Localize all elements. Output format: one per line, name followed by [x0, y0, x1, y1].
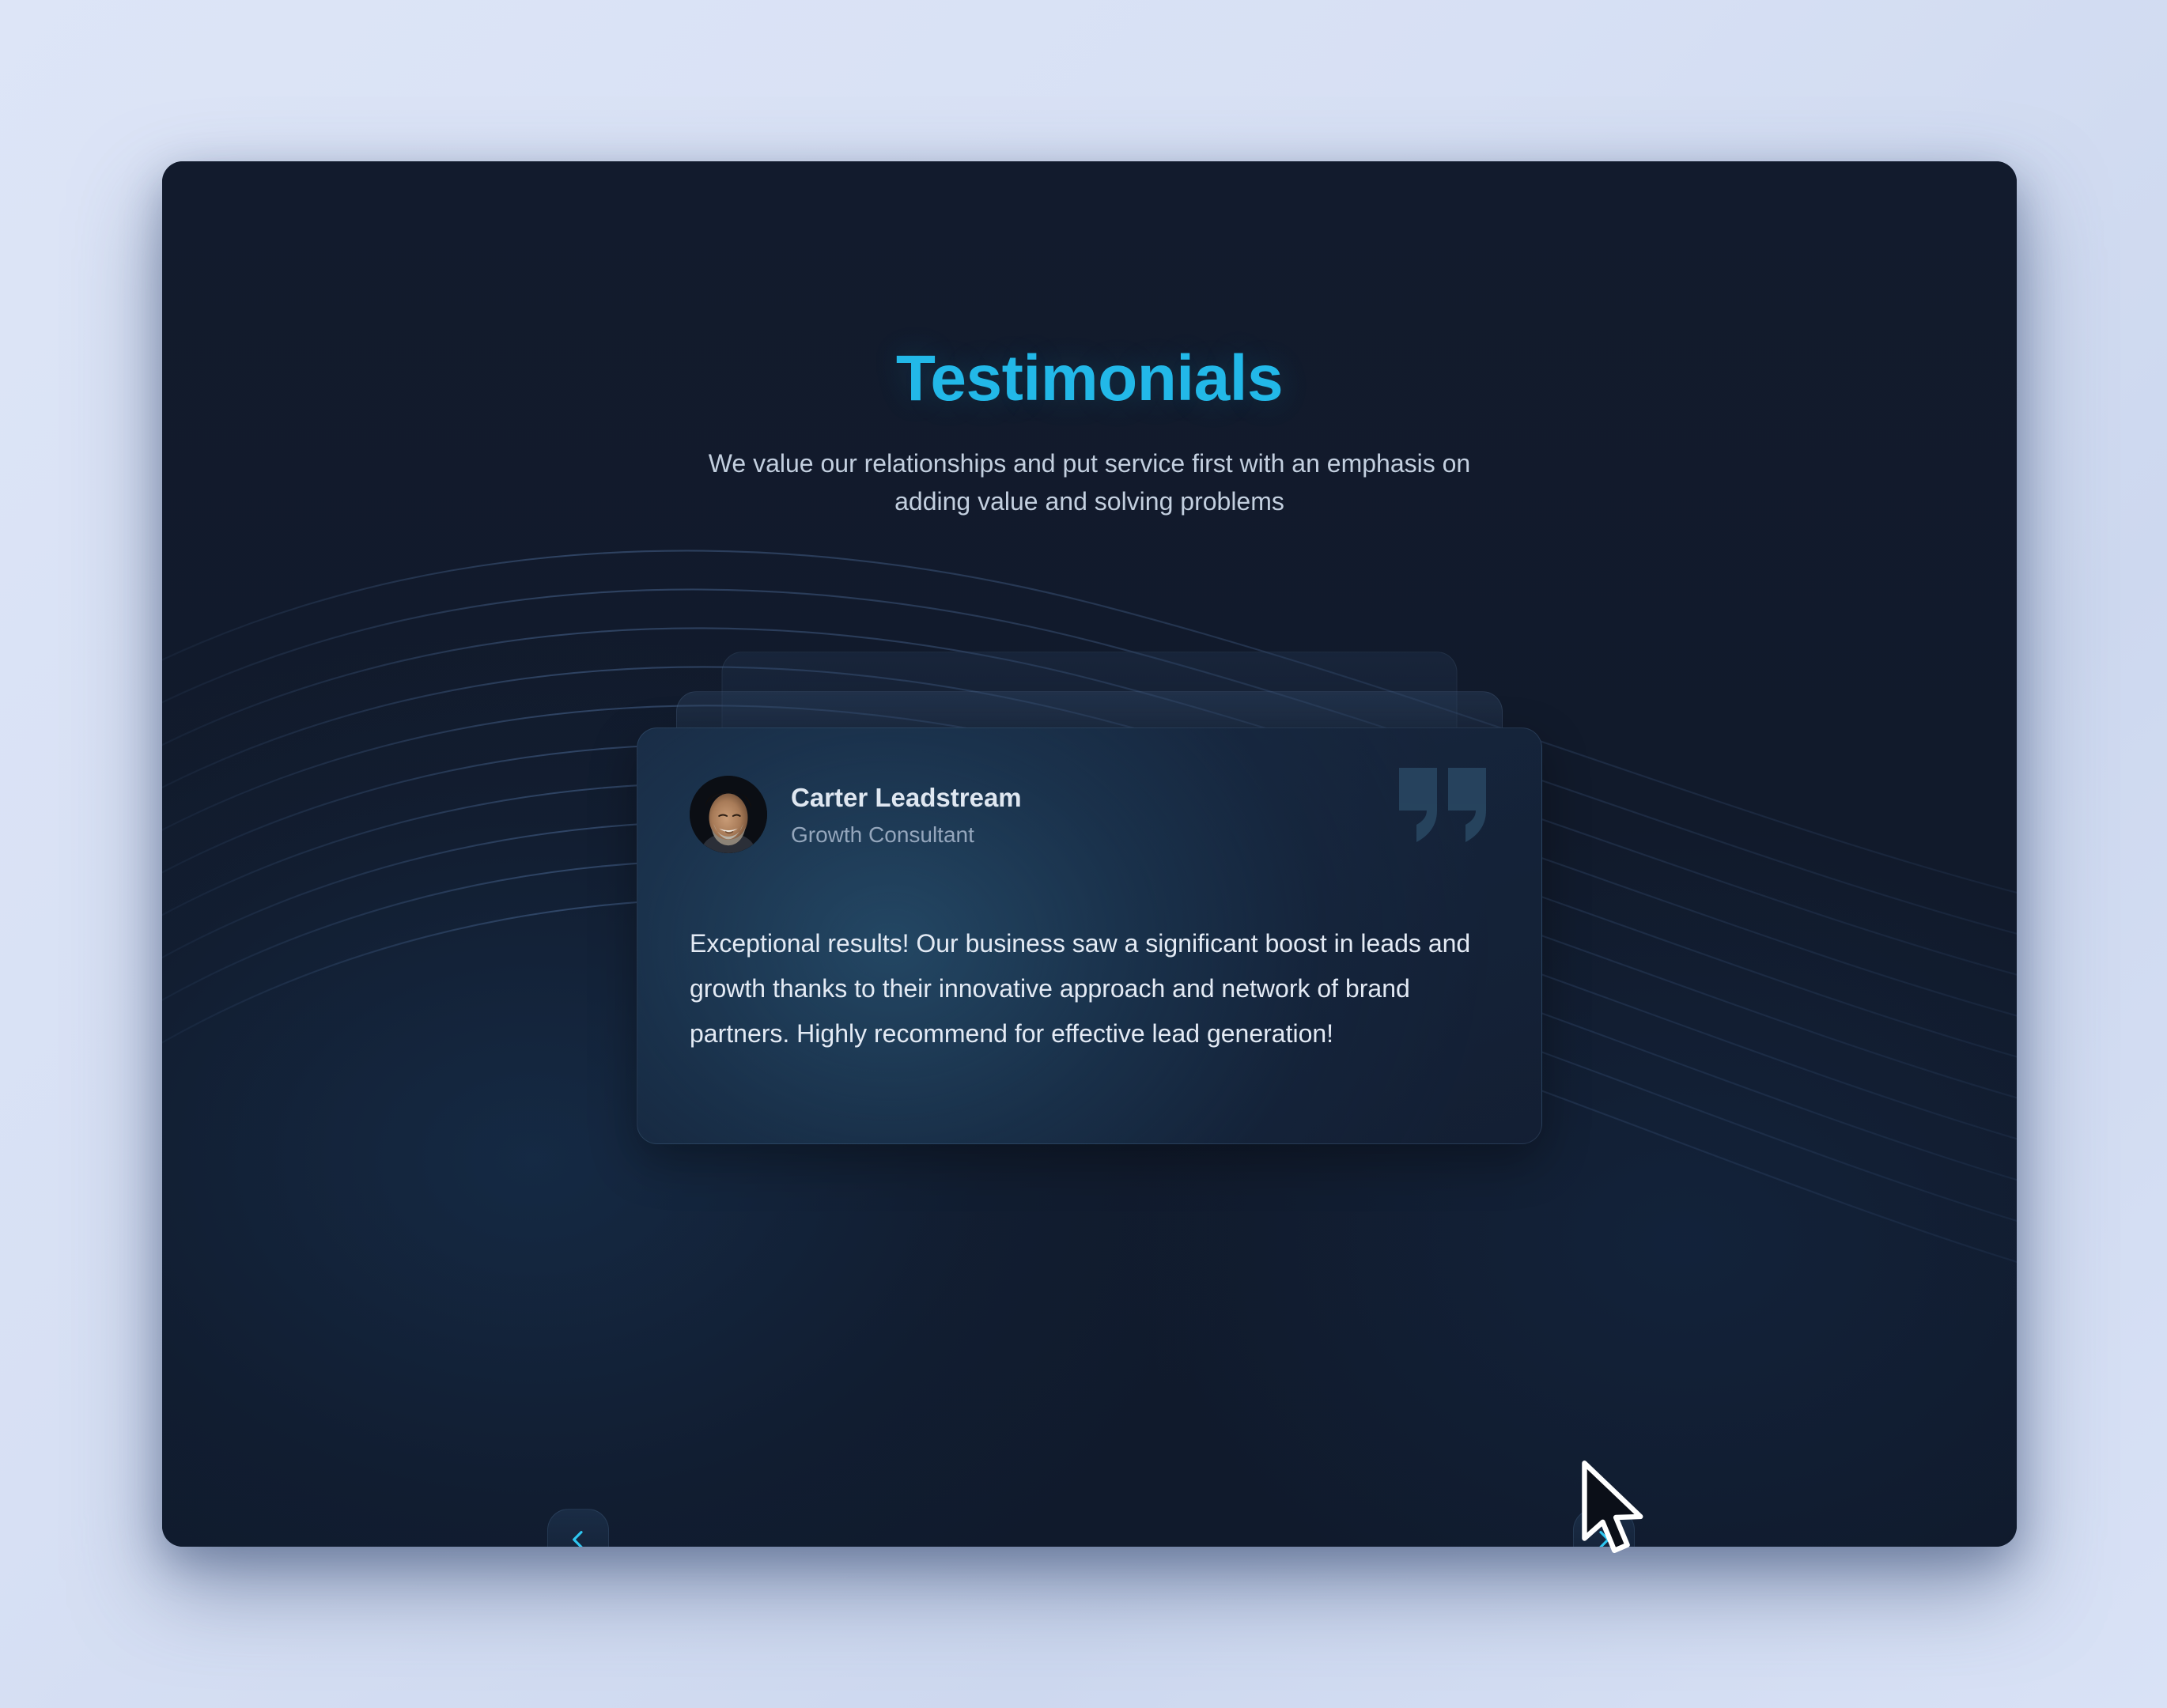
testimonial-carousel: Carter Leadstream Growth Consultant Ex [162, 652, 2017, 1205]
author-role: Growth Consultant [791, 822, 1022, 848]
chevron-left-icon [565, 1527, 591, 1547]
page-title: Testimonials [162, 345, 2017, 413]
carousel-prev-button[interactable] [547, 1509, 609, 1547]
testimonial-author: Carter Leadstream Growth Consultant [690, 776, 1488, 853]
author-text: Carter Leadstream Growth Consultant [791, 781, 1022, 848]
quote-mark-icon [1396, 766, 1492, 844]
carousel-next-button[interactable] [1573, 1509, 1635, 1547]
testimonial-quote: Exceptional results! Our business saw a … [690, 921, 1488, 1056]
avatar [690, 776, 767, 853]
chevron-right-icon [1591, 1527, 1617, 1547]
testimonial-card: Carter Leadstream Growth Consultant Ex [637, 727, 1542, 1144]
card-stack: Carter Leadstream Growth Consultant Ex [637, 652, 1542, 1126]
page-subtitle: We value our relationships and put servi… [683, 444, 1497, 520]
section-header: Testimonials We value our relationships … [162, 345, 2017, 520]
author-name: Carter Leadstream [791, 781, 1022, 814]
app-viewport: Testimonials We value our relationships … [162, 161, 2017, 1547]
